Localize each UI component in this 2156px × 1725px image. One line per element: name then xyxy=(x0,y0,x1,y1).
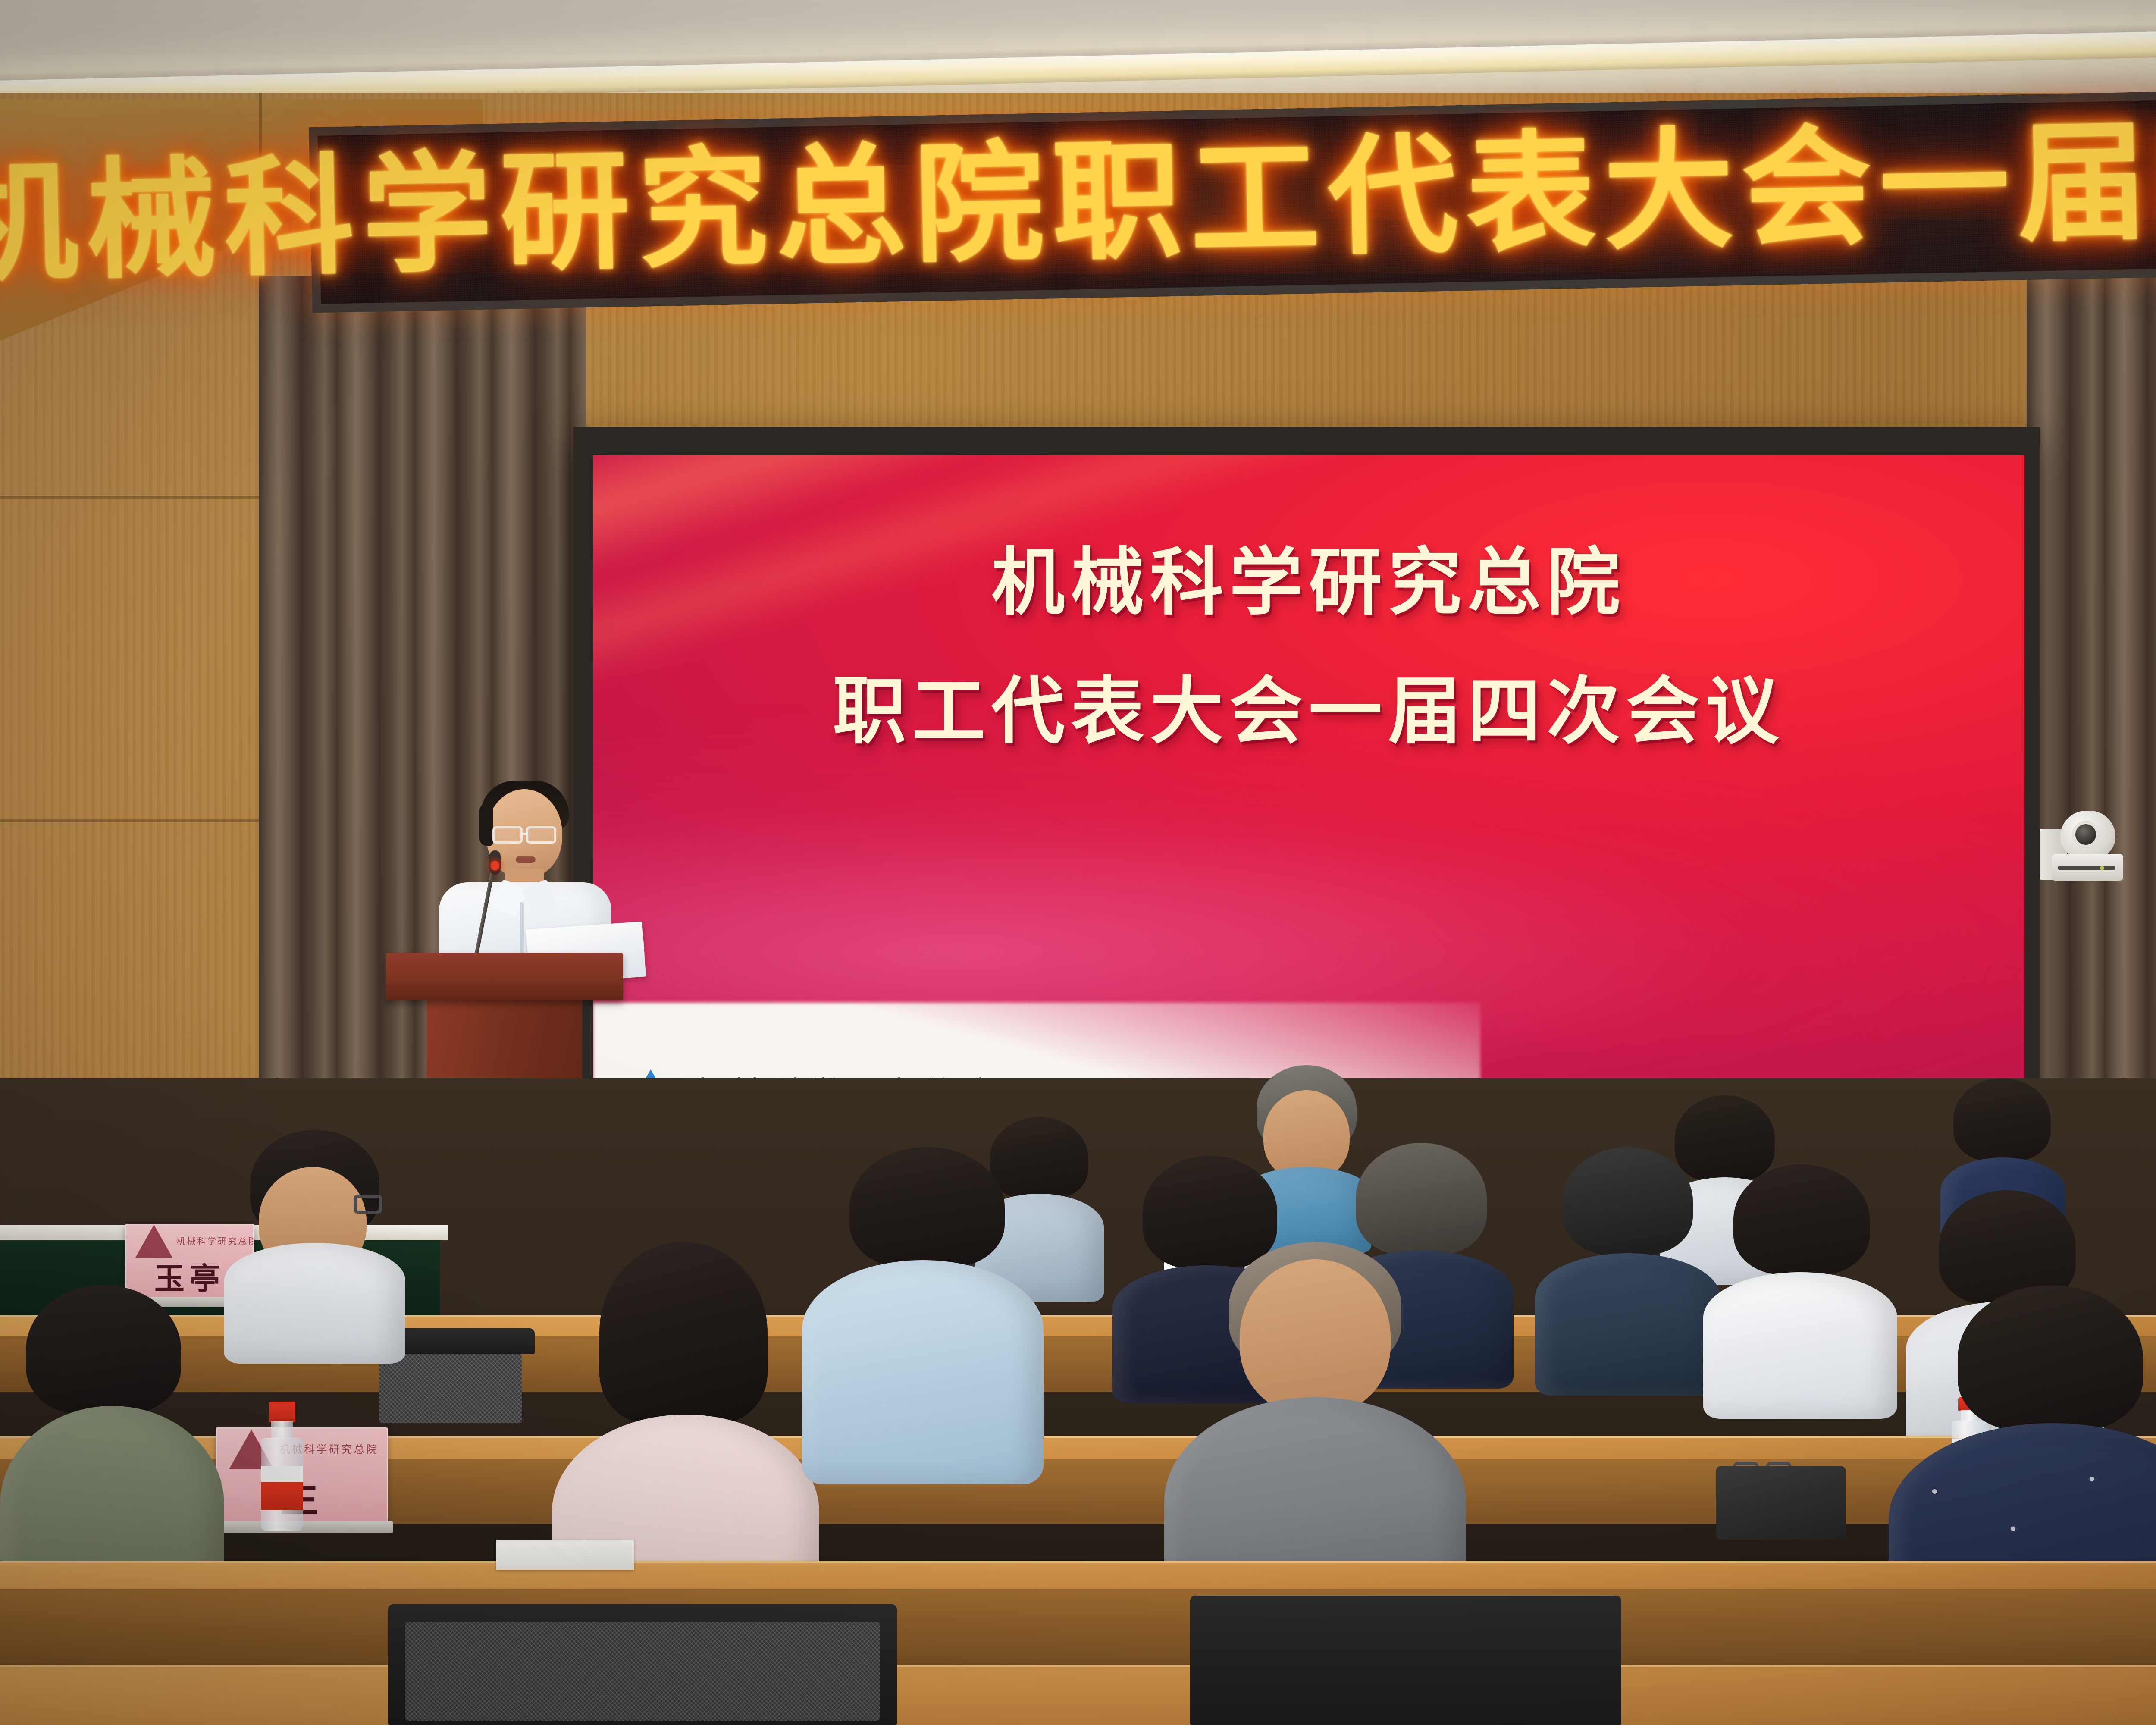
audience-person xyxy=(224,1130,405,1354)
projection-screen: 机械科学研究总院 职工代表大会一届四次会议 机械科学研究总院 China Aca… xyxy=(593,455,2024,1145)
audience-person xyxy=(1535,1147,1720,1393)
wall-seam xyxy=(0,819,302,822)
triangle-logo-icon xyxy=(135,1225,172,1258)
led-banner: 机械科学研究总院职工代表大会一届四次会议 xyxy=(309,88,2156,313)
bag xyxy=(1716,1466,1846,1540)
microphone-indicator-light xyxy=(491,861,499,870)
water-bottle xyxy=(258,1402,306,1531)
audience-person xyxy=(802,1147,1044,1475)
desk-row-nearest xyxy=(0,1665,2156,1725)
conference-hall-scene: 机械科学研究总院职工代表大会一届四次会议 机械科学研究总院 职工代表大会一届四次… xyxy=(0,0,2156,1725)
chair-back xyxy=(1190,1596,1621,1725)
glasses-icon xyxy=(492,826,523,844)
papers xyxy=(496,1540,634,1570)
chair-mesh-panel xyxy=(405,1621,880,1721)
ptz-camera-icon xyxy=(2040,811,2130,884)
audience-person xyxy=(1703,1164,1897,1414)
screen-title-block: 机械科学研究总院 职工代表大会一届四次会议 xyxy=(593,543,2024,751)
screen-title-line1: 机械科学研究总院 xyxy=(593,543,2024,623)
led-banner-text: 机械科学研究总院职工代表大会一届四次会议 xyxy=(0,107,2156,289)
desk-row-front xyxy=(0,1589,2156,1666)
screen-title-line2: 职工代表大会一届四次会议 xyxy=(593,672,2024,752)
desk-row-front-edge xyxy=(0,1561,2156,1591)
glasses-icon xyxy=(354,1195,382,1214)
led-banner-panel: 机械科学研究总院职工代表大会一届四次会议 xyxy=(318,97,2156,304)
